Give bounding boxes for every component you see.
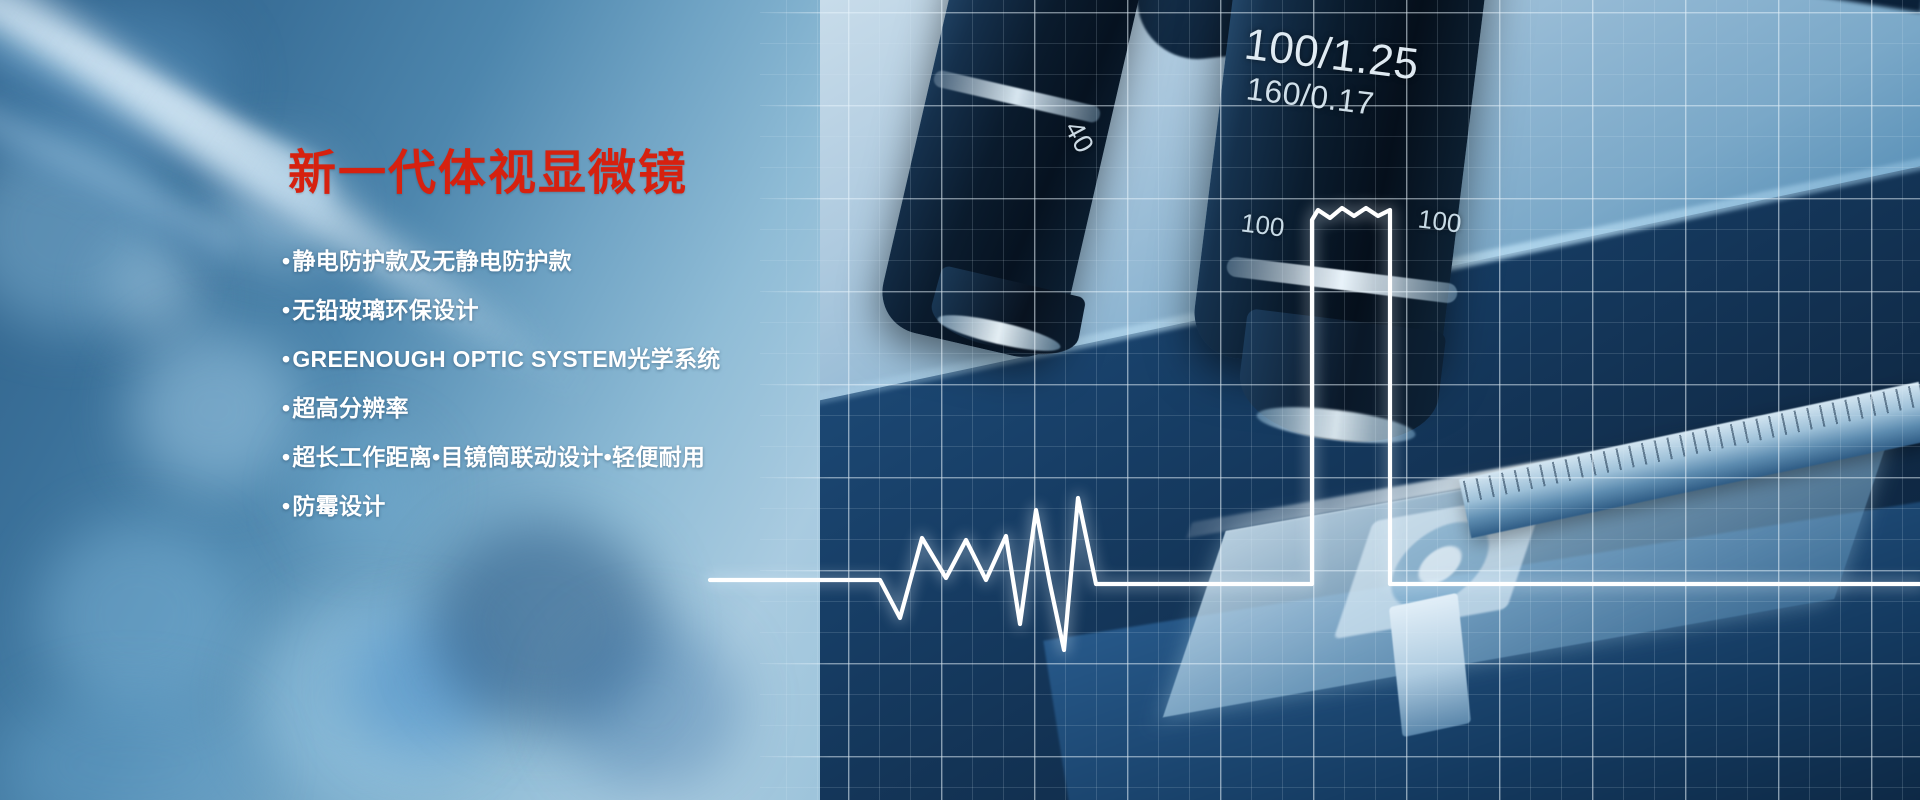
feature-list: •静电防护款及无静电防护款 •无铅玻璃环保设计 •GREENOUGH OPTIC… xyxy=(282,250,842,518)
feature-text: 超高分辨率 xyxy=(292,395,409,421)
list-item: •静电防护款及无静电防护款 xyxy=(282,250,842,273)
bullet-marker-icon: • xyxy=(282,493,290,519)
page-title: 新一代体视显微镜 xyxy=(288,150,842,198)
bullet-marker-icon: • xyxy=(282,248,290,274)
bullet-marker-icon: • xyxy=(282,444,290,470)
list-item: •无铅玻璃环保设计 xyxy=(282,299,842,322)
list-item: •超长工作距离•目镜筒联动设计•轻便耐用 xyxy=(282,446,842,469)
feature-text: 无铅玻璃环保设计 xyxy=(292,297,478,323)
bullet-marker-icon: • xyxy=(282,297,290,323)
product-hero-banner: 40 100/1.25 160/0.17 100 100 新一代体视显微镜 •静… xyxy=(0,0,1920,800)
bullet-marker-icon: • xyxy=(282,395,290,421)
banner-copy: 新一代体视显微镜 •静电防护款及无静电防护款 •无铅玻璃环保设计 •GREENO… xyxy=(282,150,842,544)
feature-text: 静电防护款及无静电防护款 xyxy=(292,248,572,274)
feature-text: 超长工作距离•目镜筒联动设计•轻便耐用 xyxy=(292,444,705,470)
feature-text: 防霉设计 xyxy=(292,493,385,519)
feature-text: GREENOUGH OPTIC SYSTEM光学系统 xyxy=(292,346,720,372)
ecg-waveform-overlay xyxy=(860,180,1920,700)
ecg-waveform-svg xyxy=(860,180,1920,700)
list-item: •GREENOUGH OPTIC SYSTEM光学系统 xyxy=(282,348,842,371)
list-item: •防霉设计 xyxy=(282,495,842,518)
list-item: •超高分辨率 xyxy=(282,397,842,420)
bullet-marker-icon: • xyxy=(282,346,290,372)
